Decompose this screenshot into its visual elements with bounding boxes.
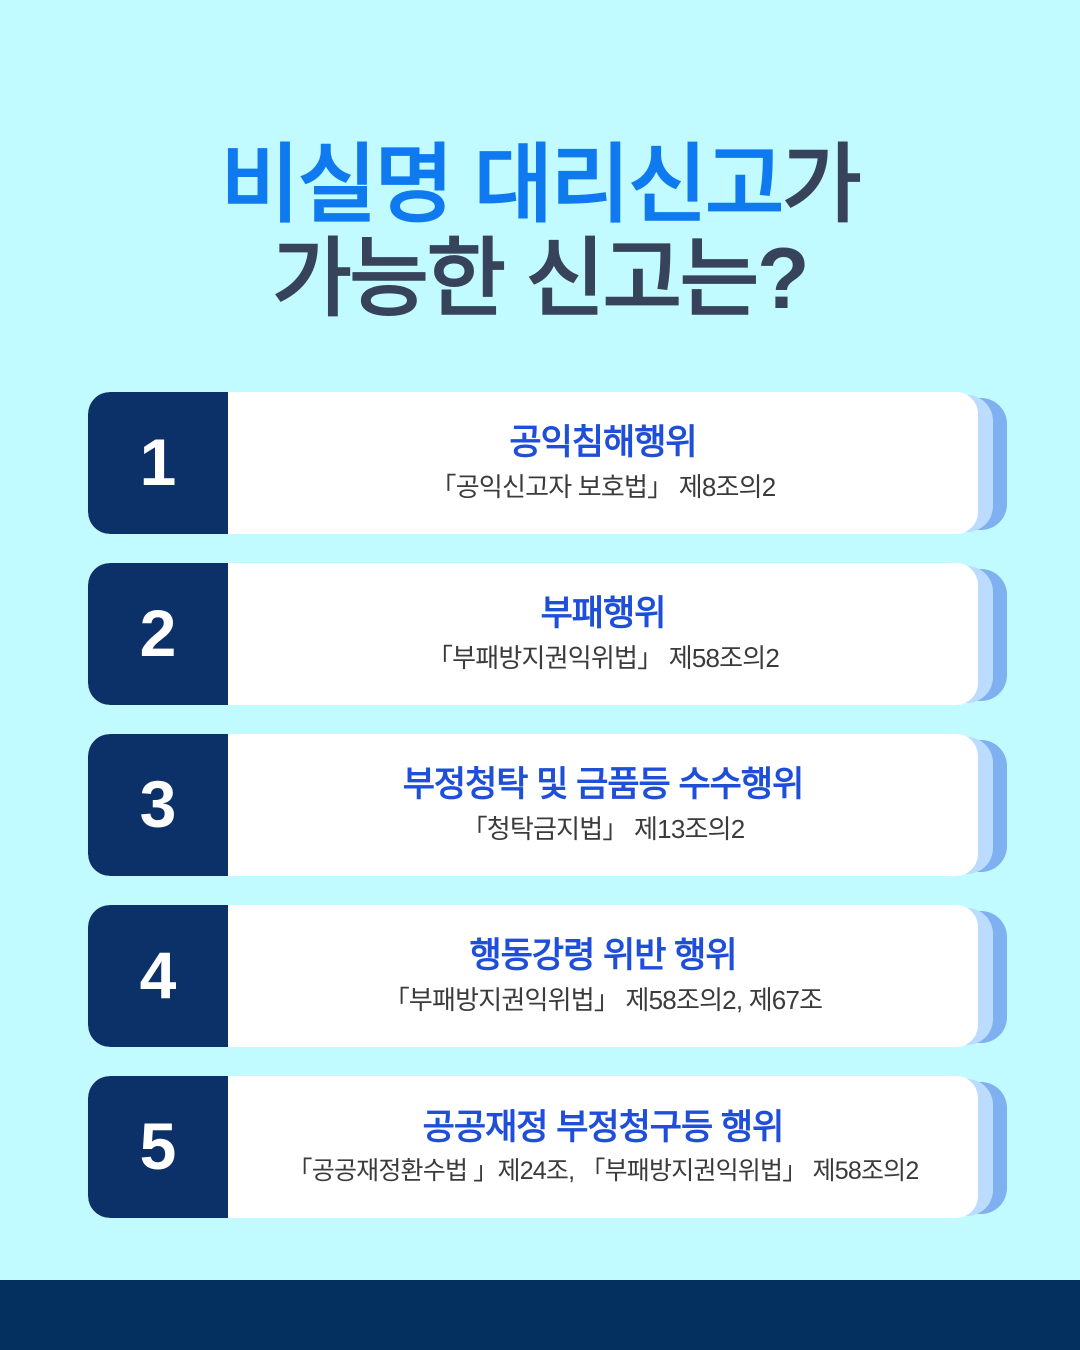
list-item[interactable]: 4 행동강령 위반 행위 「부패방지권익위법」 제58조의2, 제67조 xyxy=(88,905,1008,1047)
card-title: 공공재정 부정청구등 행위 xyxy=(423,1108,784,1148)
card-subtitle: 「부패방지권익위법」 제58조의2, 제67조 xyxy=(384,985,823,1016)
card-body[interactable]: 5 공공재정 부정청구등 행위 「공공재정환수법 」제24조, 「부패방지권익위… xyxy=(88,1076,978,1218)
title-line-1-blue-text: 비실명 대리신고 xyxy=(221,137,783,233)
list-item[interactable]: 1 공익침해행위 「공익신고자 보호법」 제8조의2 xyxy=(88,392,1008,534)
title-line-1: 비실명 대리신고가 xyxy=(0,142,1080,228)
card-number-badge: 4 xyxy=(88,905,228,1047)
card-number-badge: 3 xyxy=(88,734,228,876)
report-type-list: 1 공익침해행위 「공익신고자 보호법」 제8조의2 2 부패행위 「부패방지권… xyxy=(88,392,1008,1218)
card-text-group: 부정청탁 및 금품등 수수행위 「청탁금지법」 제13조의2 xyxy=(228,734,978,876)
list-item[interactable]: 5 공공재정 부정청구등 행위 「공공재정환수법 」제24조, 「부패방지권익위… xyxy=(88,1076,1008,1218)
card-body[interactable]: 3 부정청탁 및 금품등 수수행위 「청탁금지법」 제13조의2 xyxy=(88,734,978,876)
card-title: 부정청탁 및 금품등 수수행위 xyxy=(403,765,804,805)
page-title: 비실명 대리신고가 가능한 신고는? xyxy=(0,142,1080,322)
card-text-group: 공익침해행위 「공익신고자 보호법」 제8조의2 xyxy=(228,392,978,534)
card-title: 부패행위 xyxy=(541,594,666,634)
list-item[interactable]: 3 부정청탁 및 금품등 수수행위 「청탁금지법」 제13조의2 xyxy=(88,734,1008,876)
card-number-badge: 2 xyxy=(88,563,228,705)
title-line-2: 가능한 신고는? xyxy=(0,236,1080,322)
footer-bar xyxy=(0,1280,1080,1350)
card-subtitle: 「부패방지권익위법」 제58조의2 xyxy=(427,643,779,674)
card-text-group: 행동강령 위반 행위 「부패방지권익위법」 제58조의2, 제67조 xyxy=(228,905,978,1047)
card-body[interactable]: 2 부패행위 「부패방지권익위법」 제58조의2 xyxy=(88,563,978,705)
card-title: 행동강령 위반 행위 xyxy=(469,936,736,976)
card-number-badge: 1 xyxy=(88,392,228,534)
card-number-badge: 5 xyxy=(88,1076,228,1218)
card-body[interactable]: 1 공익침해행위 「공익신고자 보호법」 제8조의2 xyxy=(88,392,978,534)
card-subtitle: 「공공재정환수법 」제24조, 「부패방지권익위법」 제58조의2 xyxy=(288,1156,919,1186)
card-subtitle: 「청탁금지법」 제13조의2 xyxy=(462,814,745,845)
title-line-1-navy-text: 가 xyxy=(782,137,859,233)
card-title: 공익침해행위 xyxy=(509,423,696,463)
card-text-group: 공공재정 부정청구등 행위 「공공재정환수법 」제24조, 「부패방지권익위법」… xyxy=(228,1076,978,1218)
card-text-group: 부패행위 「부패방지권익위법」 제58조의2 xyxy=(228,563,978,705)
card-body[interactable]: 4 행동강령 위반 행위 「부패방지권익위법」 제58조의2, 제67조 xyxy=(88,905,978,1047)
card-subtitle: 「공익신고자 보호법」 제8조의2 xyxy=(431,472,776,503)
list-item[interactable]: 2 부패행위 「부패방지권익위법」 제58조의2 xyxy=(88,563,1008,705)
